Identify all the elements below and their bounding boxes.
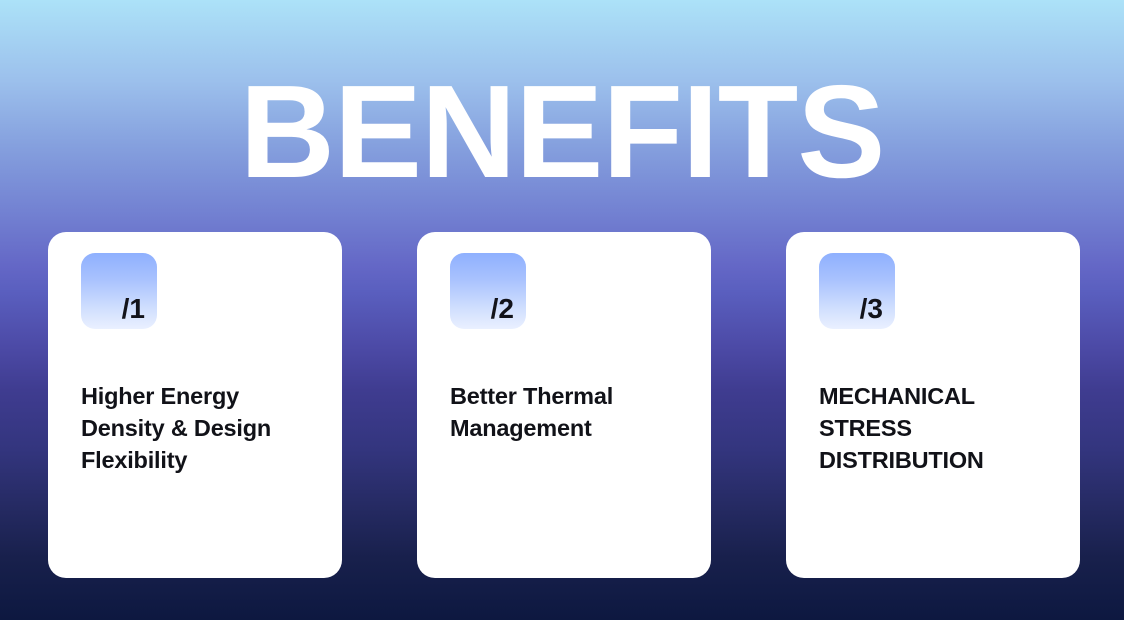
benefit-badge-1: /1: [81, 253, 157, 329]
benefit-badge-label-1: /1: [122, 295, 145, 323]
benefit-card-3[interactable]: /3 MECHANICAL STRESS DISTRIBUTION: [786, 232, 1080, 578]
benefit-badge-2: /2: [450, 253, 526, 329]
benefit-heading-3: MECHANICAL STRESS DISTRIBUTION: [819, 380, 1062, 476]
benefits-slide: BENEFITS /1 Higher Energy Density & Desi…: [0, 0, 1124, 620]
benefit-card-1[interactable]: /1 Higher Energy Density & Design Flexib…: [48, 232, 342, 578]
benefit-badge-label-2: /2: [491, 295, 514, 323]
benefit-badge-3: /3: [819, 253, 895, 329]
benefit-heading-2: Better Thermal Management: [450, 380, 693, 444]
benefit-card-list: /1 Higher Energy Density & Design Flexib…: [48, 232, 1080, 578]
benefit-card-2[interactable]: /2 Better Thermal Management: [417, 232, 711, 578]
benefit-heading-1: Higher Energy Density & Design Flexibili…: [81, 380, 324, 476]
page-title: BENEFITS: [0, 66, 1124, 198]
benefit-badge-label-3: /3: [860, 295, 883, 323]
